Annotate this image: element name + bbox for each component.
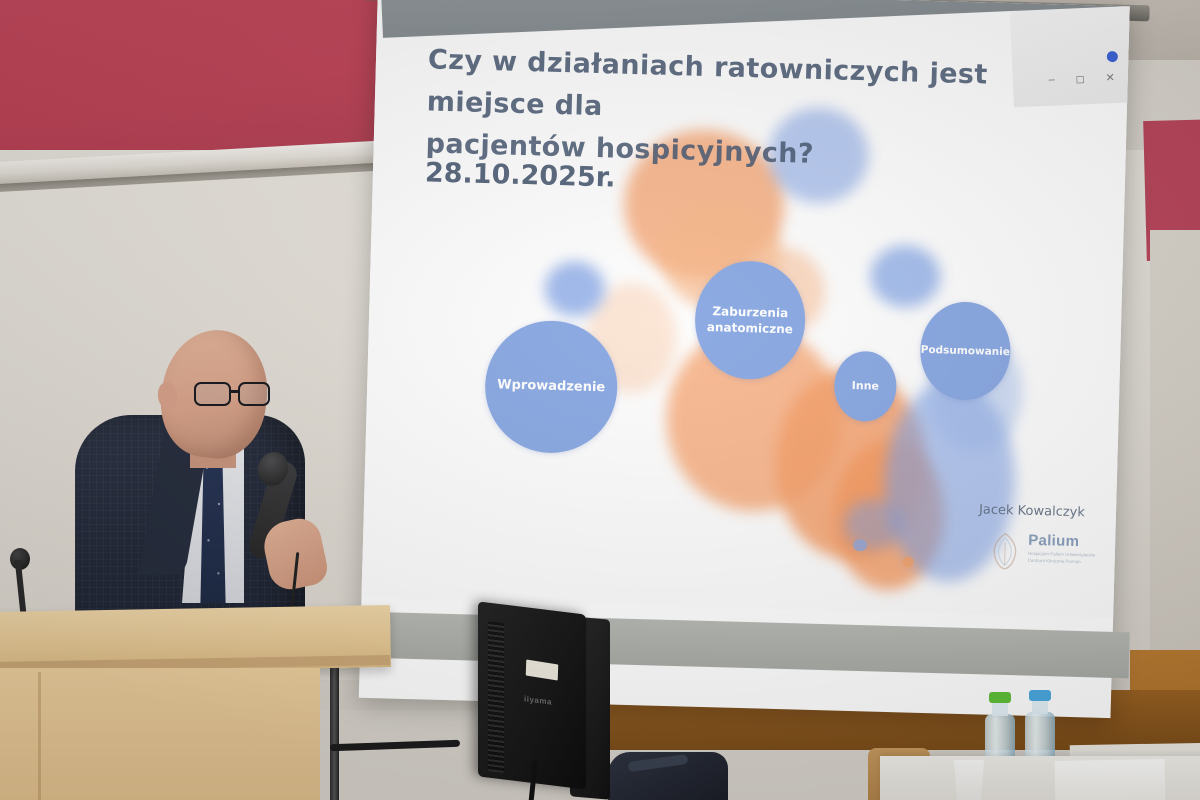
scene-root: – ◻ ✕ Czy w działaniach ratowniczych jes… <box>0 0 1200 800</box>
papers-on-table <box>1055 759 1166 800</box>
palium-logo-text: Palium <box>1028 532 1098 551</box>
computer-monitor: iiyama <box>478 600 628 800</box>
presenter-glasses <box>194 382 278 408</box>
podium-body <box>0 668 320 800</box>
slide-date: 28.10.2025r. <box>425 157 616 193</box>
taskbar-item-ratownicy[interactable]: Ratownicy - ratown... <box>648 617 766 618</box>
glasses-lens-right <box>238 382 270 406</box>
monitor-vents <box>488 621 504 773</box>
glasses-bridge <box>231 390 239 393</box>
microphone-boom-arm <box>330 740 460 752</box>
bottle-cap-green <box>989 692 1011 703</box>
palium-logo-icon <box>987 531 1022 572</box>
slide-surface: – ◻ ✕ Czy w działaniach ratowniczych jes… <box>361 0 1129 618</box>
podium-panel-seam <box>38 672 41 800</box>
bottle-cap-blue <box>1029 690 1051 701</box>
maximize-button[interactable]: ◻ <box>1075 72 1085 85</box>
palium-logo-subtext: Hospicjum Palium Uniwersyteckie Centrum … <box>1028 551 1098 566</box>
glasses-lens-left <box>194 382 231 406</box>
projection-screen: – ◻ ✕ Czy w działaniach ratowniczych jes… <box>359 0 1130 718</box>
close-button[interactable]: ✕ <box>1105 71 1115 84</box>
account-indicator-icon[interactable] <box>1107 51 1118 62</box>
slide-author: Jacek Kowalczyk <box>979 502 1085 520</box>
watercolor-blob-blue <box>870 244 942 308</box>
right-wall-panel <box>1150 230 1200 650</box>
paper-cup <box>952 760 986 800</box>
palium-logo: Palium Hospicjum Palium Uniwersyteckie C… <box>987 531 1098 574</box>
